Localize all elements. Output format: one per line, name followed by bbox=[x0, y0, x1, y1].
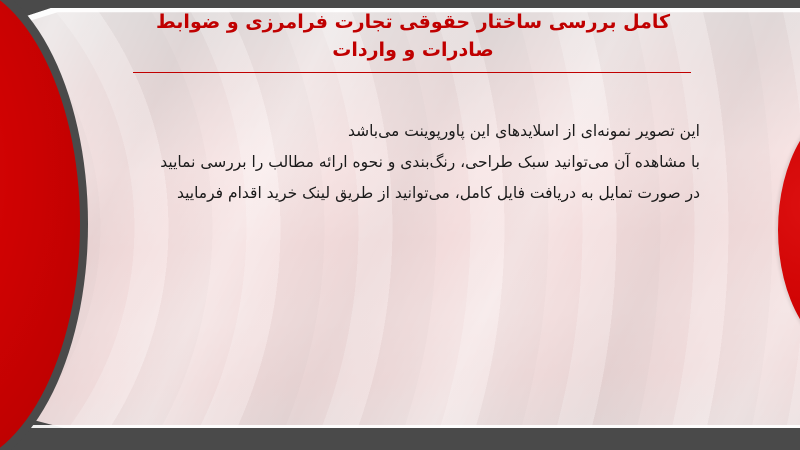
slide-title-line-2: صادرات و واردات bbox=[130, 36, 696, 64]
title-divider-rule bbox=[133, 72, 691, 73]
body-text-line-1: این تصویر نمونه‌ای از اسلایدهای این پاور… bbox=[100, 116, 700, 147]
slide-surface bbox=[0, 8, 800, 428]
slide-body-text: این تصویر نمونه‌ای از اسلایدهای این پاور… bbox=[100, 116, 700, 209]
slide-title: کامل بررسی ساختار حقوقی تجارت فرامرزی و … bbox=[130, 8, 696, 64]
background-arc-pattern bbox=[0, 8, 800, 428]
slide-title-line-1: کامل بررسی ساختار حقوقی تجارت فرامرزی و … bbox=[130, 8, 696, 36]
slide-surface-inner bbox=[0, 8, 800, 428]
body-text-line-2: با مشاهده آن می‌توانید سبک طراحی، رنگ‌بن… bbox=[100, 147, 700, 178]
body-text-line-3: در صورت تمایل به دریافت فایل کامل، می‌تو… bbox=[100, 178, 700, 209]
slide-frame-bottom-border bbox=[0, 436, 800, 450]
presentation-slide: کامل بررسی ساختار حقوقی تجارت فرامرزی و … bbox=[0, 0, 800, 450]
